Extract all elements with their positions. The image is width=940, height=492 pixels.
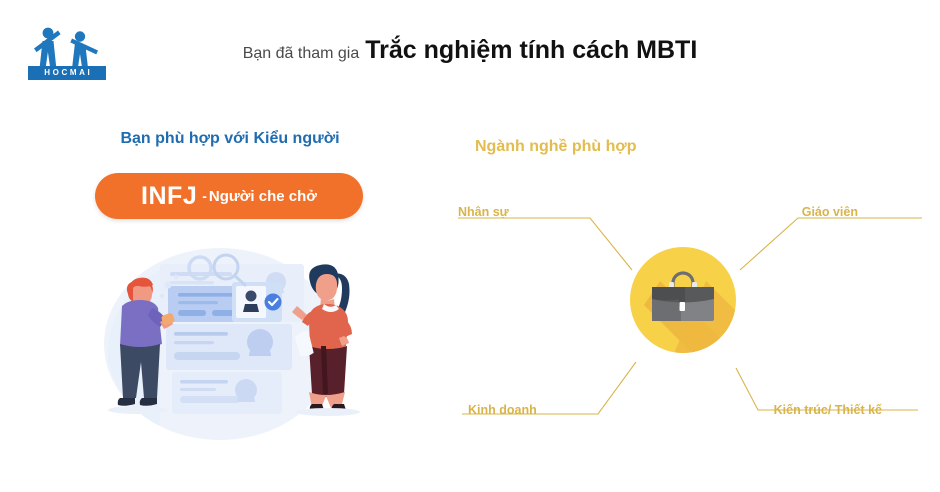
recruitment-illustration: [100, 240, 368, 448]
career-diagram: Nhân sự Giáo viên Kinh doanh Kiến trúc/ …: [440, 118, 940, 458]
page-header: HOCMAI Bạn đã tham giaTrắc nghiệm tính c…: [0, 0, 940, 100]
personality-type-name: Người che chở: [209, 188, 317, 205]
personality-type-heading: Bạn phù hợp với Kiểu người: [0, 130, 460, 148]
hocmai-wordmark: HOCMAI: [28, 66, 106, 80]
personality-type-badge[interactable]: INFJ - Người che chở: [95, 173, 363, 219]
page-title-main: Trắc nghiệm tính cách MBTI: [365, 36, 697, 64]
personality-type-code: INFJ: [141, 182, 197, 211]
career-label-kinh-doanh[interactable]: Kinh doanh: [468, 403, 537, 417]
career-label-kien-truc-thiet-ke[interactable]: Kiến trúc/ Thiết kế: [774, 403, 882, 417]
briefcase-icon: [650, 270, 716, 328]
personality-type-panel: Bạn phù hợp với Kiểu người INFJ - Người …: [0, 118, 460, 458]
career-label-nhan-su[interactable]: Nhân sự: [458, 205, 509, 219]
career-suggestions-panel: Ngành nghề phù hợp Nhân sự Giáo viên Kin…: [440, 118, 940, 458]
personality-type-separator: -: [202, 188, 207, 204]
career-center-icon: [630, 247, 736, 353]
recruitment-illustration-svg: [100, 240, 368, 448]
page-title: Bạn đã tham giaTrắc nghiệm tính cách MBT…: [0, 36, 940, 65]
career-label-giao-vien[interactable]: Giáo viên: [802, 205, 858, 219]
mbti-result-page: HOCMAI Bạn đã tham giaTrắc nghiệm tính c…: [0, 0, 940, 492]
page-title-prefix: Bạn đã tham gia: [243, 45, 360, 62]
